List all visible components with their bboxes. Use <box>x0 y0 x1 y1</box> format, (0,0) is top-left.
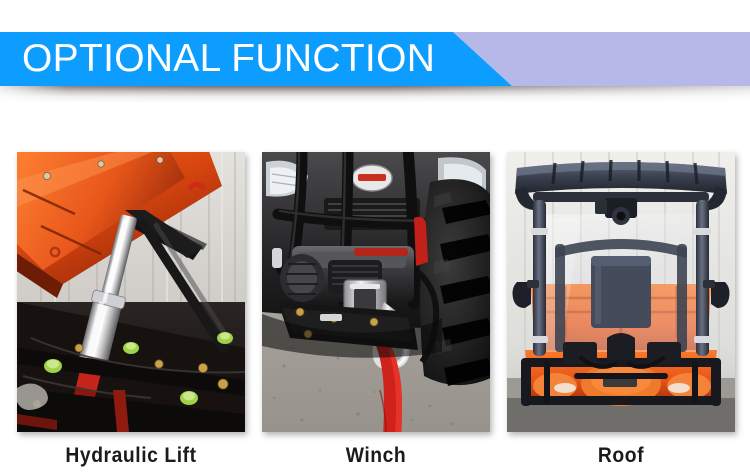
caption-roof: Roof <box>516 440 726 472</box>
card-hydraulic-lift[interactable] <box>17 152 245 432</box>
hydraulic-lift-illustration <box>17 152 245 432</box>
photo-winch <box>262 152 490 432</box>
winch-illustration <box>262 152 490 432</box>
optional-function-card-row <box>0 152 750 434</box>
caption-hydraulic-lift: Hydraulic Lift <box>26 440 236 472</box>
roof-illustration <box>507 152 735 432</box>
page-title: OPTIONAL FUNCTION <box>22 32 435 86</box>
card-roof[interactable] <box>507 152 735 432</box>
banner-drop-shadow <box>0 86 750 103</box>
optional-function-banner: OPTIONAL FUNCTION <box>0 32 750 86</box>
card-caption-row: Hydraulic Lift Winch Roof <box>0 440 750 472</box>
photo-hydraulic-lift <box>17 152 245 432</box>
caption-winch: Winch <box>271 440 481 472</box>
photo-roof <box>507 152 735 432</box>
card-winch[interactable] <box>262 152 490 432</box>
